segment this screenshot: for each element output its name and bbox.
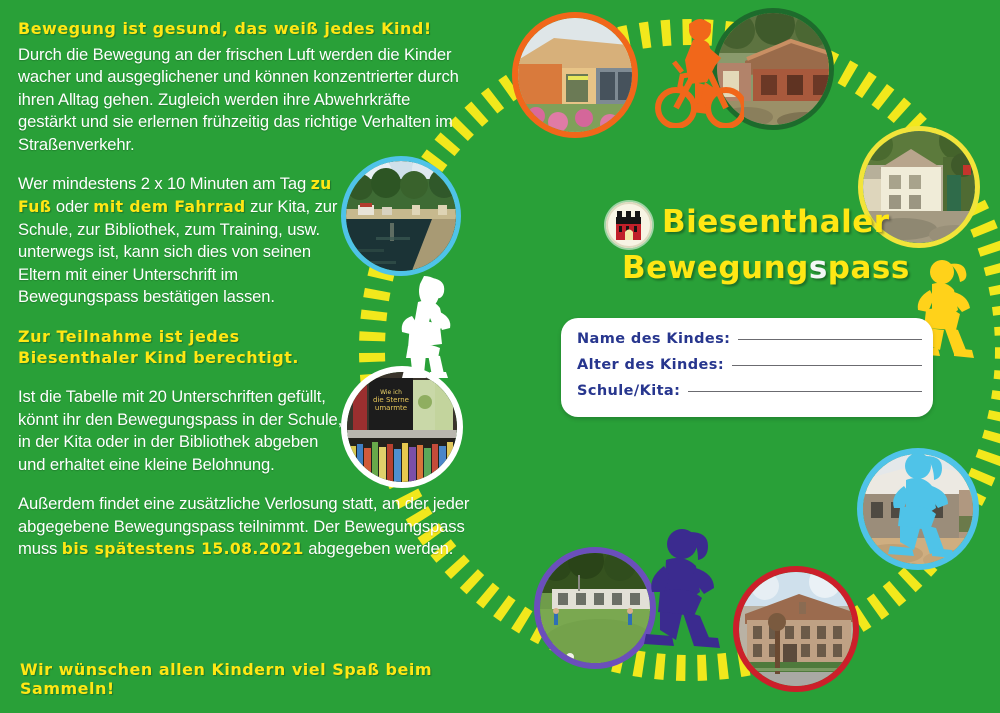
bewegungspass-poster: Wie ich die Sterne umarmte	[0, 0, 1000, 713]
headline-2: Zur Teilnahme ist jedes Biesenthaler Kin…	[18, 326, 348, 369]
input-line-name[interactable]	[738, 339, 922, 340]
poster-title-block: Biesenthaler Bewegungspass	[606, 198, 986, 308]
label-schule-kita: Schule/Kita:	[577, 383, 680, 399]
runner-silhouette-cyan	[880, 452, 956, 562]
biesenthal-coat-of-arms-icon	[606, 202, 652, 248]
paragraph-2-block: Wer mindestens 2 x 10 Minuten am Tag zu …	[18, 173, 348, 308]
paragraph-1-block: Bewegung ist gesund, das weiß jedes Kind…	[18, 18, 470, 156]
headline-1: Bewegung ist gesund, das weiß jedes Kind…	[18, 18, 470, 40]
paragraph-2-part-1: Wer mindestens 2 x 10 Minuten am Tag	[18, 174, 311, 193]
title-line-2-s: s	[809, 250, 828, 286]
paragraph-1: Durch die Bewegung an der frischen Luft …	[18, 45, 459, 154]
closing-line: Wir wünschen allen Kindern viel Spaß bei…	[20, 660, 480, 698]
form-row-school: Schule/Kita:	[577, 383, 922, 399]
paragraph-4-part-2: abgegeben werden.	[304, 539, 454, 558]
paragraph-4-block: Außerdem findet eine zusätzliche Verlosu…	[18, 493, 470, 561]
info-text-column: Bewegung ist gesund, das weiß jedes Kind…	[18, 18, 470, 578]
title-line-2: Bewegungspass	[622, 250, 910, 286]
photo-school-building	[733, 566, 859, 692]
input-line-age[interactable]	[732, 365, 922, 366]
title-line-2-part-b: pass	[828, 250, 910, 286]
title-line-1: Biesenthaler	[662, 204, 890, 240]
label-name-des-kindes: Name des Kindes:	[577, 331, 730, 347]
headline-2-block: Zur Teilnahme ist jedes Biesenthaler Kin…	[18, 326, 348, 369]
cyclist-silhouette-orange	[638, 16, 744, 128]
photo-kita-orange-building	[512, 12, 638, 138]
child-details-card: Name des Kindes: Alter des Kindes: Schul…	[561, 318, 933, 417]
paragraph-4-highlight-1: bis spätestens 15.08.2021	[62, 540, 304, 558]
paragraph-3-block: Ist die Tabelle mit 20 Unterschriften ge…	[18, 386, 348, 476]
runner-silhouette-purple	[638, 528, 724, 650]
label-alter-des-kindes: Alter des Kindes:	[577, 357, 724, 373]
input-line-school[interactable]	[688, 391, 922, 392]
form-row-name: Name des Kindes:	[577, 331, 922, 347]
title-line-2-part-a: Bewegung	[622, 250, 809, 286]
form-row-age: Alter des Kindes:	[577, 357, 922, 373]
paragraph-2-highlight-2: mit dem Fahrrad	[93, 198, 245, 216]
paragraph-2-part-2: oder	[51, 197, 93, 216]
